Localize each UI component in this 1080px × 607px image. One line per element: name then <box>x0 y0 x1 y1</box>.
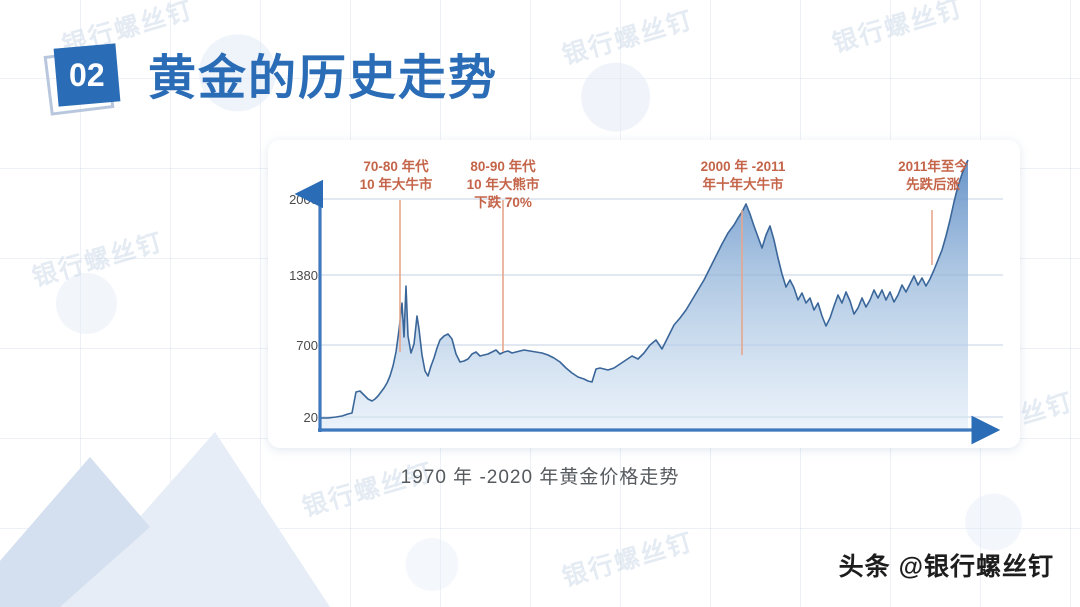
page-title-block: 02 黄金的历史走势 <box>52 46 498 112</box>
background-watermark-text: 银行螺丝钉 <box>558 0 698 72</box>
annotation-line: 10 年大熊市 <box>455 176 551 194</box>
annotation-label-2: 80-90 年代 10 年大熊市 下跌 70% <box>455 158 551 212</box>
annotation-line: 80-90 年代 <box>455 158 551 176</box>
chart-caption: 1970 年 -2020 年黄金价格走势 <box>0 462 1080 489</box>
annotation-label-1: 70-80 年代 10 年大牛市 <box>348 158 444 194</box>
annotation-line: 先跌后涨 <box>878 176 988 194</box>
annotation-line: 70-80 年代 <box>348 158 444 176</box>
background-watermark-text: 银行螺丝钉 <box>28 222 168 294</box>
annotation-line: 年十年大牛市 <box>684 176 802 194</box>
annotation-label-4: 2011年至今 先跌后涨 <box>878 158 988 194</box>
annotation-label-3: 2000 年 -2011 年十年大牛市 <box>684 158 802 194</box>
chart-series-gold-price <box>320 160 968 432</box>
badge-solid-square: 02 <box>54 43 121 106</box>
section-number-badge: 02 <box>52 46 122 112</box>
background-watermark-text: 银行螺丝钉 <box>828 0 968 60</box>
background-watermark-text: 银行螺丝钉 <box>558 522 698 594</box>
section-number: 02 <box>69 57 105 94</box>
annotation-line: 2011年至今 <box>878 158 988 176</box>
annotation-line: 2000 年 -2011 <box>684 158 802 176</box>
brand-watermark: 头条 @银行螺丝钉 <box>839 547 1054 583</box>
annotation-line: 10 年大牛市 <box>348 176 444 194</box>
annotation-line: 下跌 70% <box>455 194 551 212</box>
page-title: 黄金的历史走势 <box>148 55 498 103</box>
